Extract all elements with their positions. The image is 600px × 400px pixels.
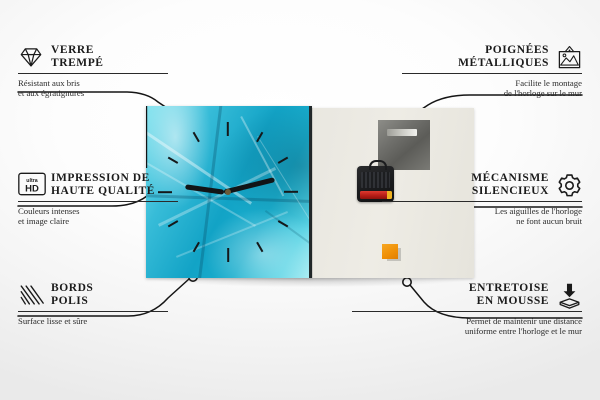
- feature-divider: [18, 201, 178, 202]
- feature-title-line2: HAUTE QUALITÉ: [51, 185, 155, 197]
- feature-title-line2: POLIS: [51, 295, 88, 307]
- feature-desc-line2: et aux égratignures: [18, 88, 84, 98]
- feature-title-line1: BORDS: [51, 282, 93, 294]
- feature-divider: [352, 311, 582, 312]
- mechanism-hanger-loop: [369, 160, 387, 170]
- picture-hanger-icon: [556, 44, 582, 70]
- feature-divider: [18, 73, 168, 74]
- feature-desc-line2: de l'horloge sur le mur: [504, 88, 582, 98]
- feature-title-line1: ENTRETOISE: [469, 282, 549, 294]
- feature-desc-line1: Facilite le montage: [515, 78, 582, 88]
- feature-mecanisme-silencieux[interactable]: MÉCANISME SILENCIEUX Les aiguilles de l'…: [382, 172, 582, 227]
- feature-desc-line2: et image claire: [18, 216, 69, 226]
- feature-verre-trempe[interactable]: VERRE TREMPÉ Résistant aux bris et aux é…: [18, 44, 168, 99]
- polished-edges-icon: [18, 282, 44, 308]
- clock-hour-hand: [185, 184, 224, 195]
- feature-desc-line2: ne font aucun bruit: [516, 216, 582, 226]
- feature-divider: [18, 311, 168, 312]
- feature-divider: [402, 73, 582, 74]
- clock-minute-hand: [223, 177, 275, 194]
- feature-desc-line1: Les aiguilles de l'horloge: [495, 206, 582, 216]
- panel-edge-line: [312, 108, 313, 278]
- feature-title-line2: MÉTALLIQUES: [458, 57, 549, 69]
- infographic-canvas: VERRE TREMPÉ Résistant aux bris et aux é…: [0, 0, 600, 400]
- feature-title-line1: VERRE: [51, 44, 94, 56]
- feature-title-line1: POIGNÉES: [485, 44, 549, 56]
- feature-entretoise-mousse[interactable]: ENTRETOISE EN MOUSSE Permet de maintenir…: [352, 282, 582, 337]
- feature-desc-line1: Surface lisse et sûre: [18, 316, 87, 326]
- feature-title-line2: EN MOUSSE: [477, 295, 549, 307]
- feature-desc-line1: Permet de maintenir une distance: [466, 316, 582, 326]
- ultra-hd-icon: ultra HD: [18, 172, 44, 198]
- clock-center-cap: [225, 189, 231, 195]
- diamond-icon: [18, 44, 44, 70]
- gear-icon: [556, 172, 582, 198]
- feature-bords-polis[interactable]: BORDS POLIS Surface lisse et sûre: [18, 282, 168, 326]
- feature-title-line1: MÉCANISME: [471, 172, 549, 184]
- foam-spacer: [382, 244, 398, 259]
- feature-desc-line1: Couleurs intenses: [18, 206, 80, 216]
- hanger-keyhole-slot: [387, 129, 417, 136]
- foam-spacer-icon: [556, 282, 582, 308]
- feature-divider: [382, 201, 582, 202]
- feature-title-line2: SILENCIEUX: [472, 185, 549, 197]
- feature-desc-line2: uniforme entre l'horloge et le mur: [465, 326, 582, 336]
- feature-title-line1: IMPRESSION DE: [51, 172, 150, 184]
- clock-second-hand: [146, 106, 147, 168]
- feature-desc-line1: Résistant aux bris: [18, 78, 80, 88]
- ultra-hd-icon-big-label: HD: [25, 183, 39, 194]
- feature-title-line2: TREMPÉ: [51, 57, 104, 69]
- feature-poignees-metalliques[interactable]: POIGNÉES MÉTALLIQUES Facilite le montage…: [402, 44, 582, 99]
- feature-impression-hd[interactable]: ultra HD IMPRESSION DE HAUTE QUALITÉ Cou…: [18, 172, 178, 227]
